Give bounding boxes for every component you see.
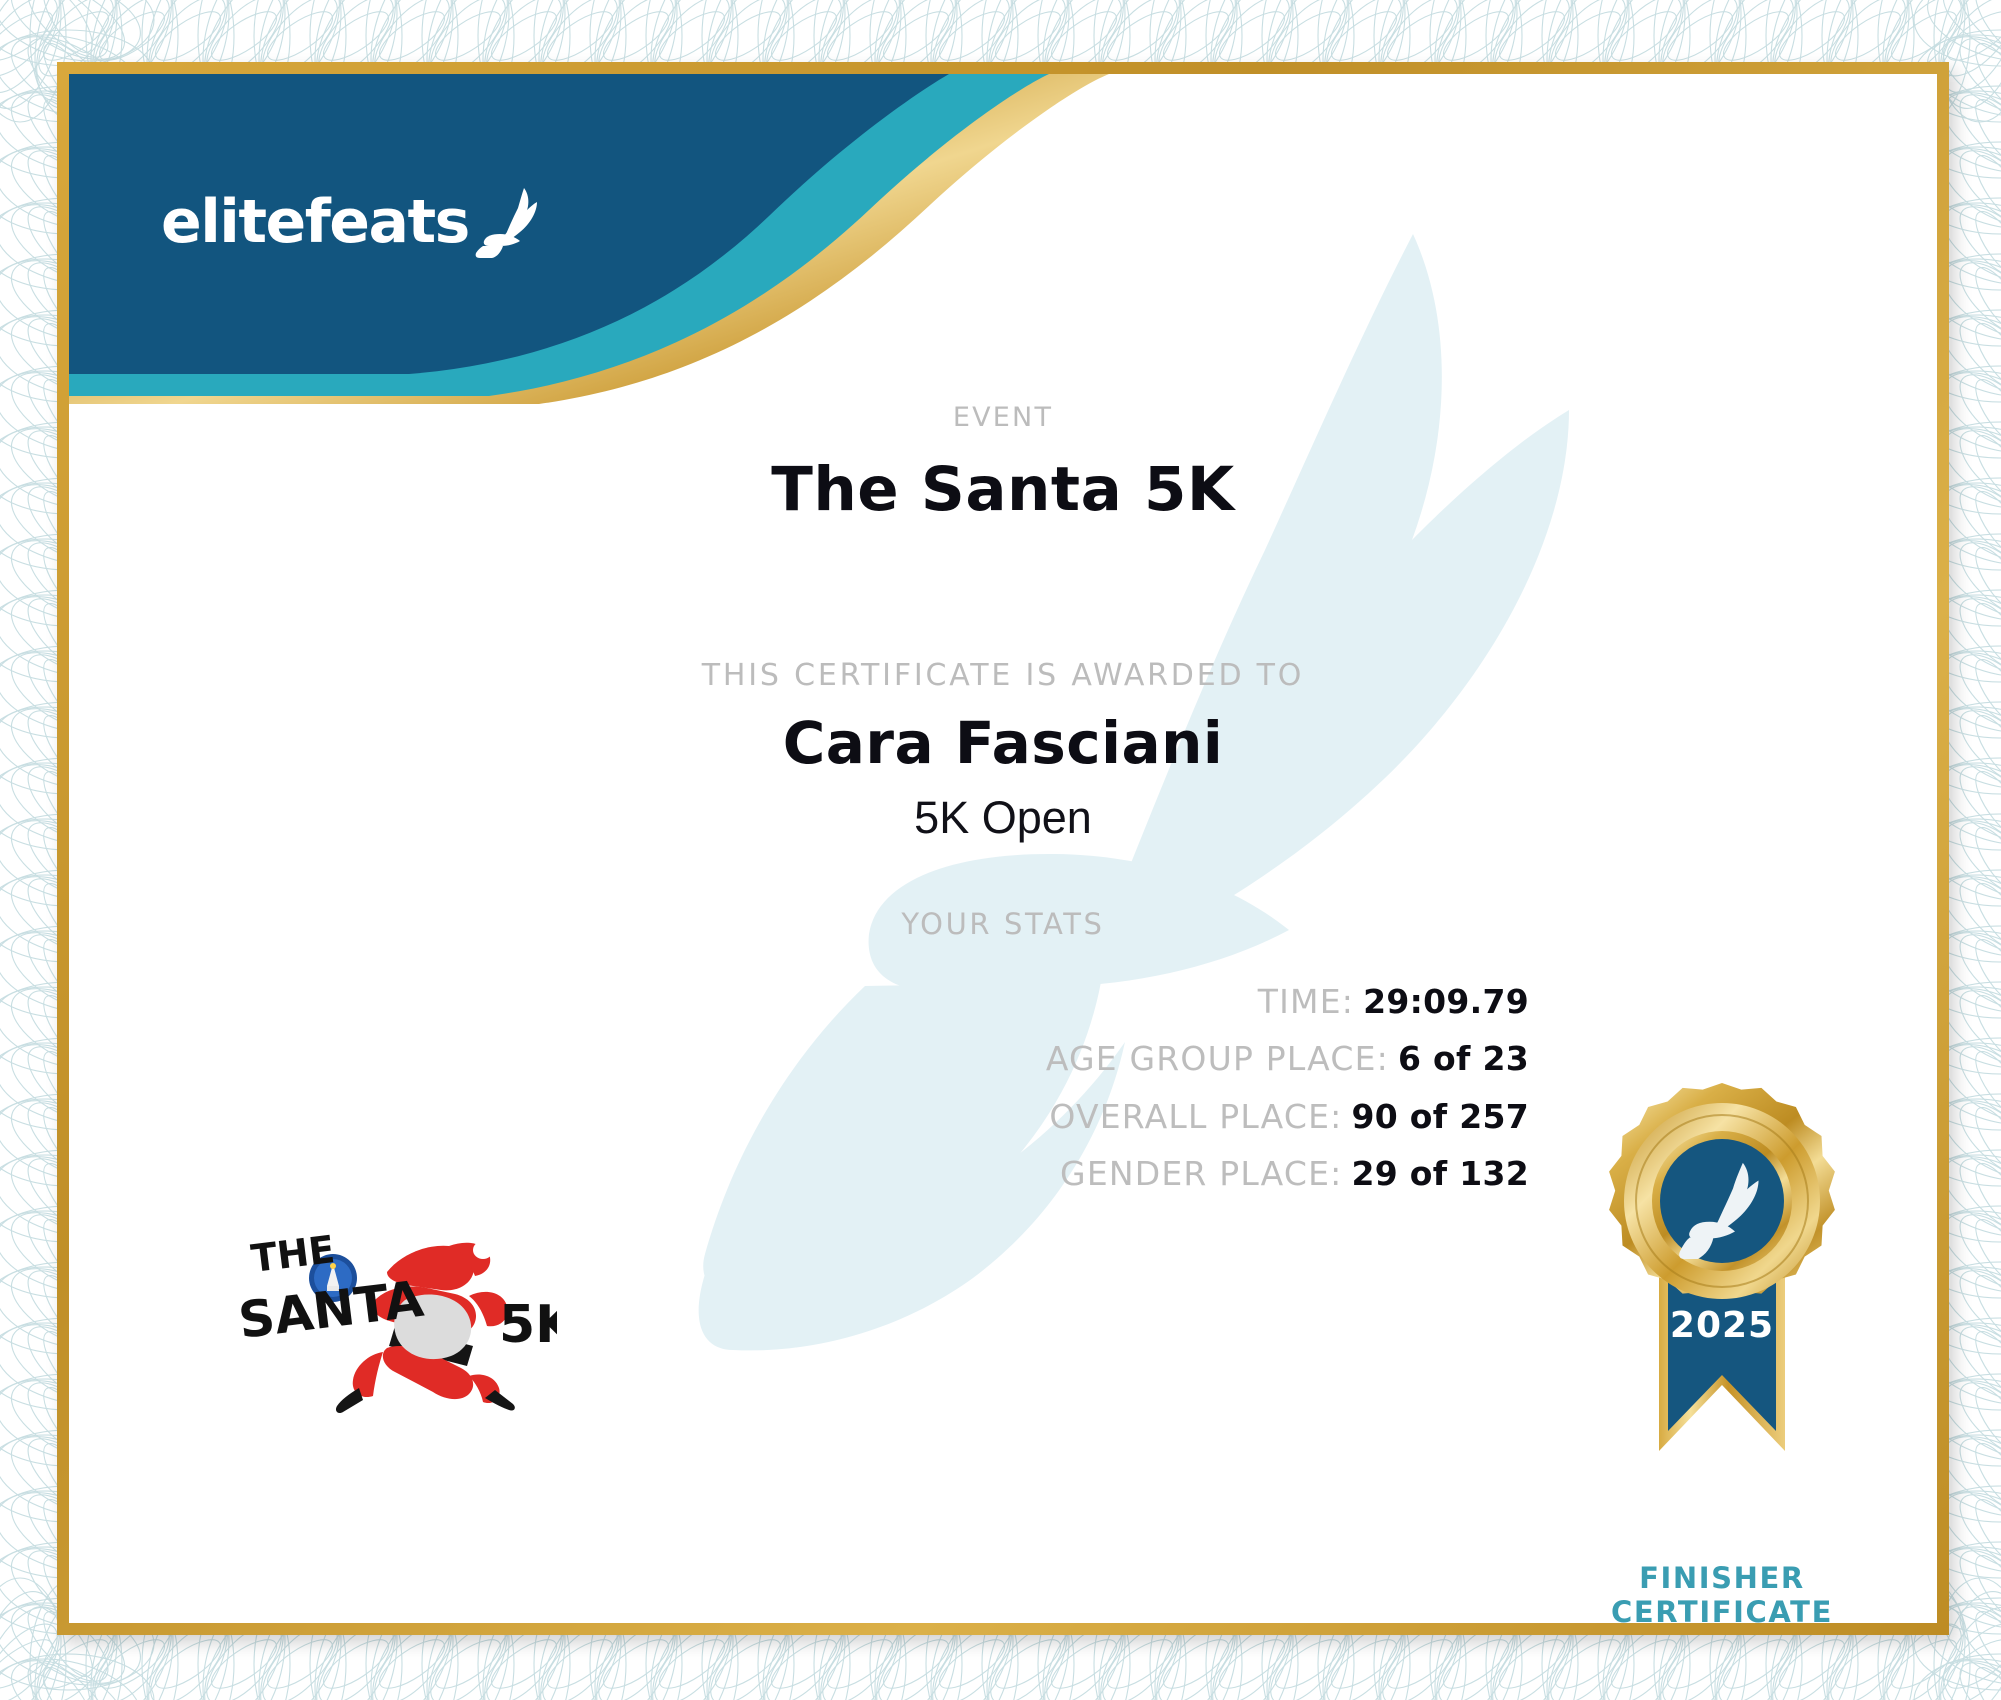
stat-value-age-group-place: 6 of 23 [1398, 1039, 1529, 1078]
stats-block: TIME:29:09.79 AGE GROUP PLACE:6 of 23 OV… [369, 984, 1529, 1213]
stat-value-overall-place: 90 of 257 [1351, 1097, 1529, 1136]
stat-label-age-group-place: AGE GROUP PLACE: [1046, 1039, 1389, 1078]
finisher-medal-badge: 2025 [1567, 1079, 1877, 1494]
finisher-caption-line2: CERTIFICATE [1512, 1595, 1932, 1623]
event-label: EVENT [69, 402, 1937, 433]
race-logo-distance: 5K [499, 1295, 557, 1355]
recipient-name: Cara Fasciani [69, 709, 1937, 777]
certificate-content: EVENT The Santa 5K THIS CERTIFICATE IS A… [69, 74, 1937, 1623]
stat-label-gender-place: GENDER PLACE: [1060, 1154, 1342, 1193]
stat-row-overall-place: OVERALL PLACE:90 of 257 [369, 1099, 1529, 1135]
recipient-division: 5K Open [69, 792, 1937, 844]
stat-row-age-group-place: AGE GROUP PLACE:6 of 23 [369, 1041, 1529, 1077]
medal-year: 2025 [1670, 1305, 1774, 1346]
stat-value-gender-place: 29 of 132 [1351, 1154, 1529, 1193]
finisher-certificate-caption: FINISHER CERTIFICATE [1512, 1561, 1932, 1623]
certificate-card: elitefeats EVENT The Santa 5K THIS CERTI… [69, 74, 1937, 1623]
santa-5k-race-logo: THE SANTA 5K [237, 1226, 557, 1416]
awarded-to-label: THIS CERTIFICATE IS AWARDED TO [69, 658, 1937, 693]
stat-row-gender-place: GENDER PLACE:29 of 132 [369, 1156, 1529, 1192]
stat-label-time: TIME: [1258, 982, 1354, 1021]
event-title: The Santa 5K [69, 454, 1937, 525]
stat-row-time: TIME:29:09.79 [369, 984, 1529, 1020]
certificate-page: elitefeats EVENT The Santa 5K THIS CERTI… [0, 0, 2001, 1700]
finisher-caption-line1: FINISHER [1512, 1561, 1932, 1595]
stat-label-overall-place: OVERALL PLACE: [1049, 1097, 1342, 1136]
stats-label: YOUR STATS [69, 907, 1937, 941]
gold-frame: elitefeats EVENT The Santa 5K THIS CERTI… [57, 62, 1949, 1635]
stat-value-time: 29:09.79 [1363, 982, 1529, 1021]
